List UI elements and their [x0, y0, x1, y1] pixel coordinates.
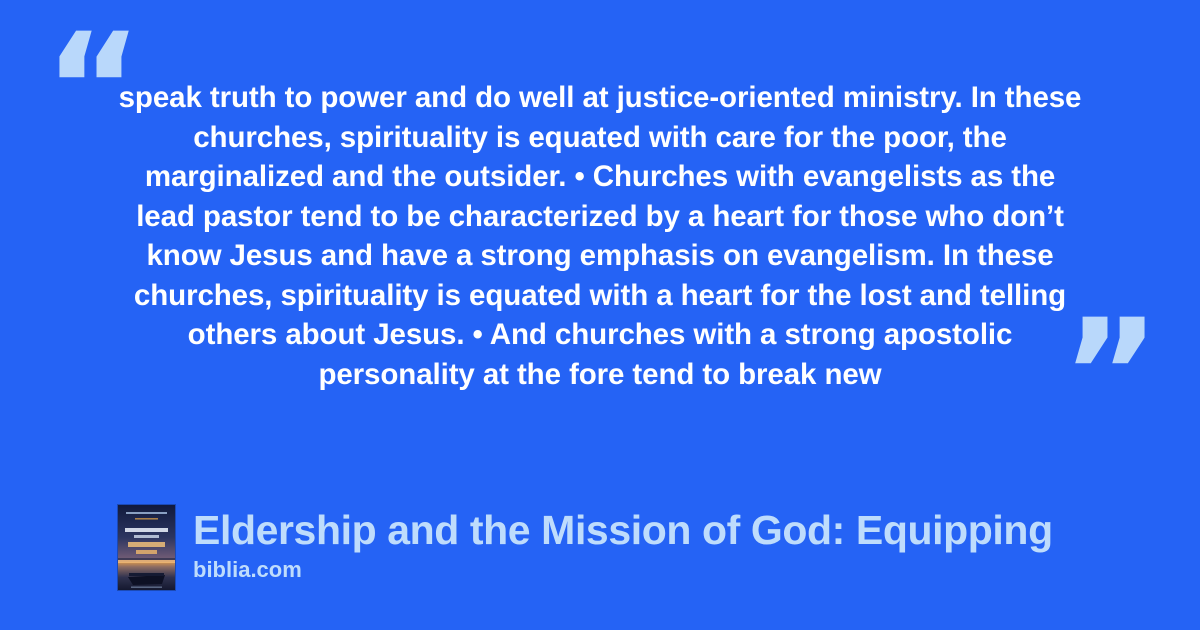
source-site-label: biblia.com [193, 556, 1053, 584]
closing-quote-icon: ” [1061, 300, 1160, 450]
quote-card: “ speak truth to power and do well at ju… [0, 0, 1200, 630]
footer-text-group: Eldership and the Mission of God: Equipp… [193, 505, 1053, 584]
book-cover-thumbnail-icon [118, 505, 175, 590]
footer-attribution: Eldership and the Mission of God: Equipp… [118, 505, 1053, 590]
book-title: Eldership and the Mission of God: Equipp… [193, 507, 1053, 553]
quote-text: speak truth to power and do well at just… [118, 78, 1082, 394]
